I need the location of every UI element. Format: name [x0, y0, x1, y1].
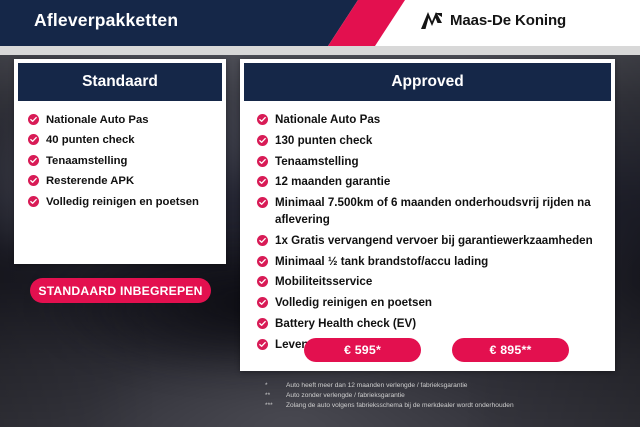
- price-button-595[interactable]: € 595*: [304, 338, 421, 362]
- check-circle-icon: [257, 318, 268, 329]
- list-item: 1x Gratis vervangend vervoer bij garanti…: [257, 233, 615, 250]
- feature-label: 12 maanden garantie: [275, 174, 400, 191]
- check-circle-icon: [257, 276, 268, 287]
- check-circle-icon: [257, 235, 268, 246]
- standaard-inbegrepen-button[interactable]: STANDAARD INBEGREPEN: [30, 278, 211, 303]
- footnote-text: Auto heeft meer dan 12 maanden verlengde…: [286, 381, 467, 391]
- list-item: Battery Health check (EV): [257, 316, 615, 333]
- feature-label: Battery Health check (EV): [275, 316, 426, 333]
- feature-label: Resterende APK: [46, 173, 144, 189]
- feature-label: 130 punten check: [275, 133, 382, 150]
- footnote-row: ** Auto zonder verlengde / fabrieksgaran…: [265, 391, 514, 401]
- footnote-marker: **: [265, 391, 286, 401]
- feature-label: Mobiliteitsservice: [275, 274, 382, 291]
- feature-label: Volledig reinigen en poetsen: [275, 295, 442, 312]
- footnote-text: Auto zonder verlengde / fabrieksgarantie: [286, 391, 405, 401]
- feature-label: Minimaal ½ tank brandstof/accu lading: [275, 254, 498, 271]
- check-circle-icon: [28, 155, 39, 166]
- card-approved: Approved Nationale Auto Pas 130 punten c…: [240, 59, 615, 371]
- feature-label: 1x Gratis vervangend vervoer bij garanti…: [275, 233, 603, 250]
- footnote-marker: *: [265, 381, 286, 391]
- footnote-text: Zolang de auto volgens fabrieksschema bi…: [286, 401, 514, 411]
- feature-label: Minimaal 7.500km of 6 maanden onderhouds…: [275, 195, 615, 229]
- check-circle-icon: [257, 339, 268, 350]
- check-circle-icon: [28, 196, 39, 207]
- card-standaard-title: Standaard: [18, 63, 222, 101]
- list-item: Mobiliteitsservice: [257, 274, 615, 291]
- card-approved-feature-list: Nationale Auto Pas 130 punten check Tena…: [257, 101, 615, 354]
- feature-label: Nationale Auto Pas: [275, 112, 390, 129]
- list-item: Minimaal ½ tank brandstof/accu lading: [257, 254, 615, 271]
- page-header: Afleverpakketten Maas-De Koning: [0, 0, 640, 46]
- check-circle-icon: [257, 156, 268, 167]
- afleverpakketten-promo-slide: Afleverpakketten Maas-De Koning Standaar…: [0, 0, 640, 427]
- check-circle-icon: [28, 175, 39, 186]
- page-title: Afleverpakketten: [34, 10, 178, 31]
- card-standaard: Standaard Nationale Auto Pas 40 punten c…: [14, 59, 226, 264]
- header-underline: [0, 46, 640, 55]
- footnote-row: * Auto heeft meer dan 12 maanden verleng…: [265, 381, 514, 391]
- list-item: Volledig reinigen en poetsen: [28, 194, 226, 210]
- price-button-row: € 595* € 895**: [304, 338, 569, 362]
- list-item: Tenaamstelling: [257, 154, 615, 171]
- list-item: 130 punten check: [257, 133, 615, 150]
- list-item: Nationale Auto Pas: [257, 112, 615, 129]
- brand-name: Maas-De Koning: [450, 12, 566, 29]
- check-circle-icon: [257, 256, 268, 267]
- feature-label: Tenaamstelling: [46, 153, 137, 169]
- list-item: Resterende APK: [28, 173, 226, 189]
- maas-de-koning-m-logo-icon: [420, 11, 443, 30]
- check-circle-icon: [257, 135, 268, 146]
- check-circle-icon: [257, 297, 268, 308]
- check-circle-icon: [28, 114, 39, 125]
- footnotes: * Auto heeft meer dan 12 maanden verleng…: [265, 381, 514, 412]
- check-circle-icon: [257, 114, 268, 125]
- list-item: 12 maanden garantie: [257, 174, 615, 191]
- footnote-row: *** Zolang de auto volgens fabrieksschem…: [265, 401, 514, 411]
- feature-label: 40 punten check: [46, 132, 145, 148]
- card-approved-title: Approved: [244, 63, 611, 101]
- list-item: Volledig reinigen en poetsen: [257, 295, 615, 312]
- check-circle-icon: [257, 197, 268, 208]
- list-item: 40 punten check: [28, 132, 226, 148]
- check-circle-icon: [28, 134, 39, 145]
- footnote-marker: ***: [265, 401, 286, 411]
- list-item: Nationale Auto Pas: [28, 112, 226, 128]
- price-button-895[interactable]: € 895**: [452, 338, 569, 362]
- feature-label: Nationale Auto Pas: [46, 112, 159, 128]
- card-standaard-feature-list: Nationale Auto Pas 40 punten check Tenaa…: [28, 101, 226, 210]
- list-item: Tenaamstelling: [28, 153, 226, 169]
- check-circle-icon: [257, 176, 268, 187]
- list-item: Minimaal 7.500km of 6 maanden onderhouds…: [257, 195, 615, 229]
- feature-label: Volledig reinigen en poetsen: [46, 194, 209, 210]
- brand-logo: Maas-De Koning: [420, 11, 566, 30]
- feature-label: Tenaamstelling: [275, 154, 369, 171]
